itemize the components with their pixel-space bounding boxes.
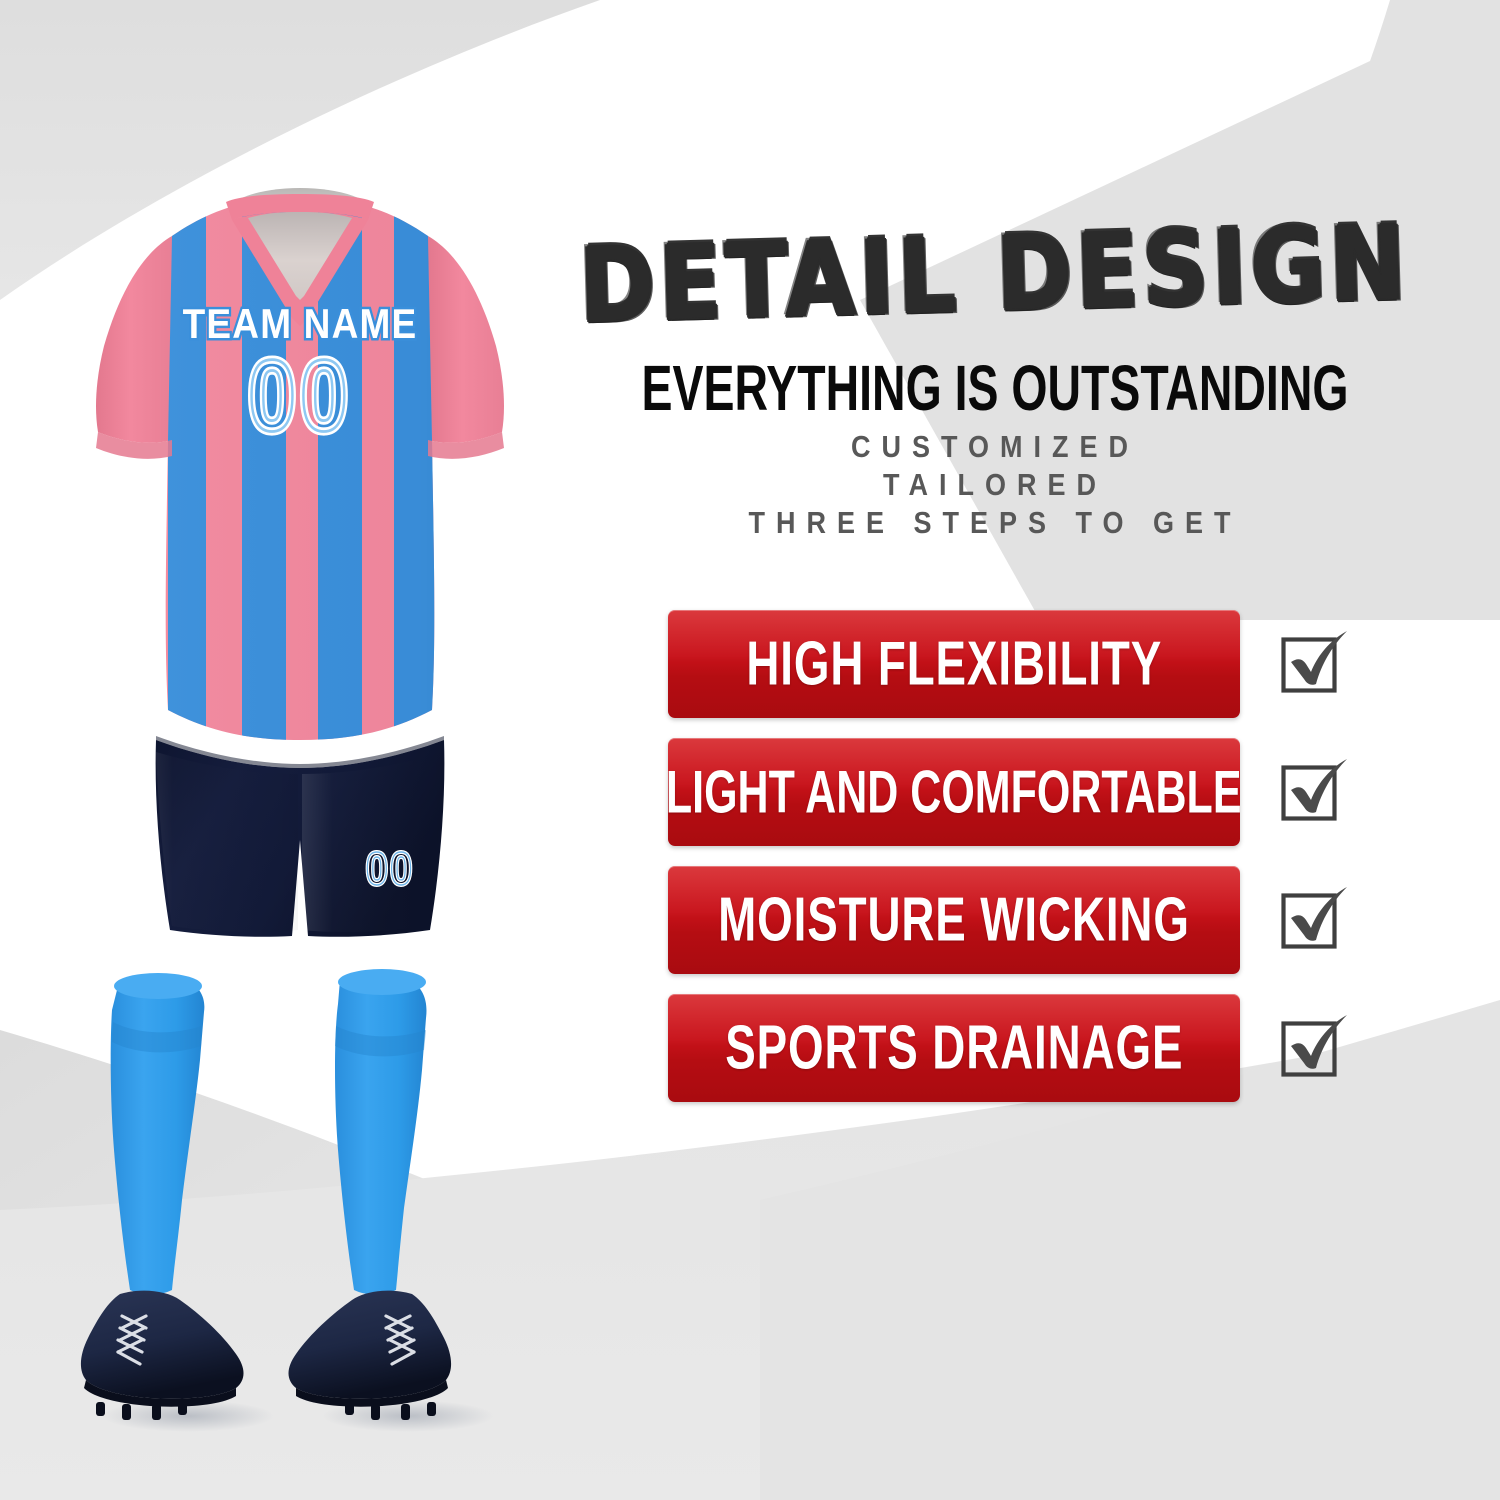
feature-badge-sports-drainage[interactable]: SPORTS DRAINAGE	[668, 994, 1240, 1102]
shorts-number-inner: 00	[366, 844, 414, 895]
jersey-number-inner: 00	[248, 339, 352, 452]
feature-label: SPORTS DRAINAGE	[725, 1012, 1183, 1084]
product-image-column: TEAM NAME 00 00 00 00	[0, 0, 600, 1500]
feature-row: MOISTURE WICKING	[545, 856, 1445, 984]
checkbox-checked-icon[interactable]	[1278, 1012, 1350, 1084]
sock-left	[111, 975, 205, 1294]
checkbox-checked-icon[interactable]	[1278, 628, 1350, 700]
jersey-and-shorts-image: TEAM NAME 00 00 00 00	[60, 140, 540, 940]
page-title: DETAIL DESIGN	[545, 222, 1445, 340]
sock-right	[335, 973, 426, 1295]
feature-badge-moisture-wicking[interactable]: MOISTURE WICKING	[668, 866, 1240, 974]
checkbox-checked-icon[interactable]	[1278, 756, 1350, 828]
socks-and-cleats-image	[60, 950, 540, 1480]
tagline-three-steps: THREE STEPS TO GET	[545, 502, 1445, 545]
feature-badge-light-and-comfortable[interactable]: LIGHT AND COMFORTABLE	[668, 738, 1240, 846]
feature-row: LIGHT AND COMFORTABLE	[545, 728, 1445, 856]
feature-list: HIGH FLEXIBILITY LIGHT AND COMFORTABLE	[545, 600, 1445, 1112]
feature-label: LIGHT AND COMFORTABLE	[668, 757, 1240, 827]
page-title-text: DETAIL DESIGN	[578, 201, 1411, 346]
feature-label: MOISTURE WICKING	[718, 884, 1190, 956]
feature-badge-high-flexibility[interactable]: HIGH FLEXIBILITY	[668, 610, 1240, 718]
feature-row: HIGH FLEXIBILITY	[545, 600, 1445, 728]
feature-row: SPORTS DRAINAGE	[545, 984, 1445, 1112]
feature-label: HIGH FLEXIBILITY	[746, 628, 1162, 700]
cleat-left	[81, 1291, 244, 1420]
tagline-customized: CUSTOMIZED	[545, 426, 1445, 469]
marketing-column: DETAIL DESIGN EVERYTHING IS OUTSTANDING …	[545, 0, 1500, 1500]
page-subtitle: EVERYTHING IS OUTSTANDING	[608, 352, 1382, 425]
checkbox-checked-icon[interactable]	[1278, 884, 1350, 956]
tagline-group: CUSTOMIZED TAILORED THREE STEPS TO GET	[545, 428, 1445, 542]
tagline-tailored: TAILORED	[545, 464, 1445, 507]
promo-banner: TEAM NAME 00 00 00 00	[0, 0, 1500, 1500]
